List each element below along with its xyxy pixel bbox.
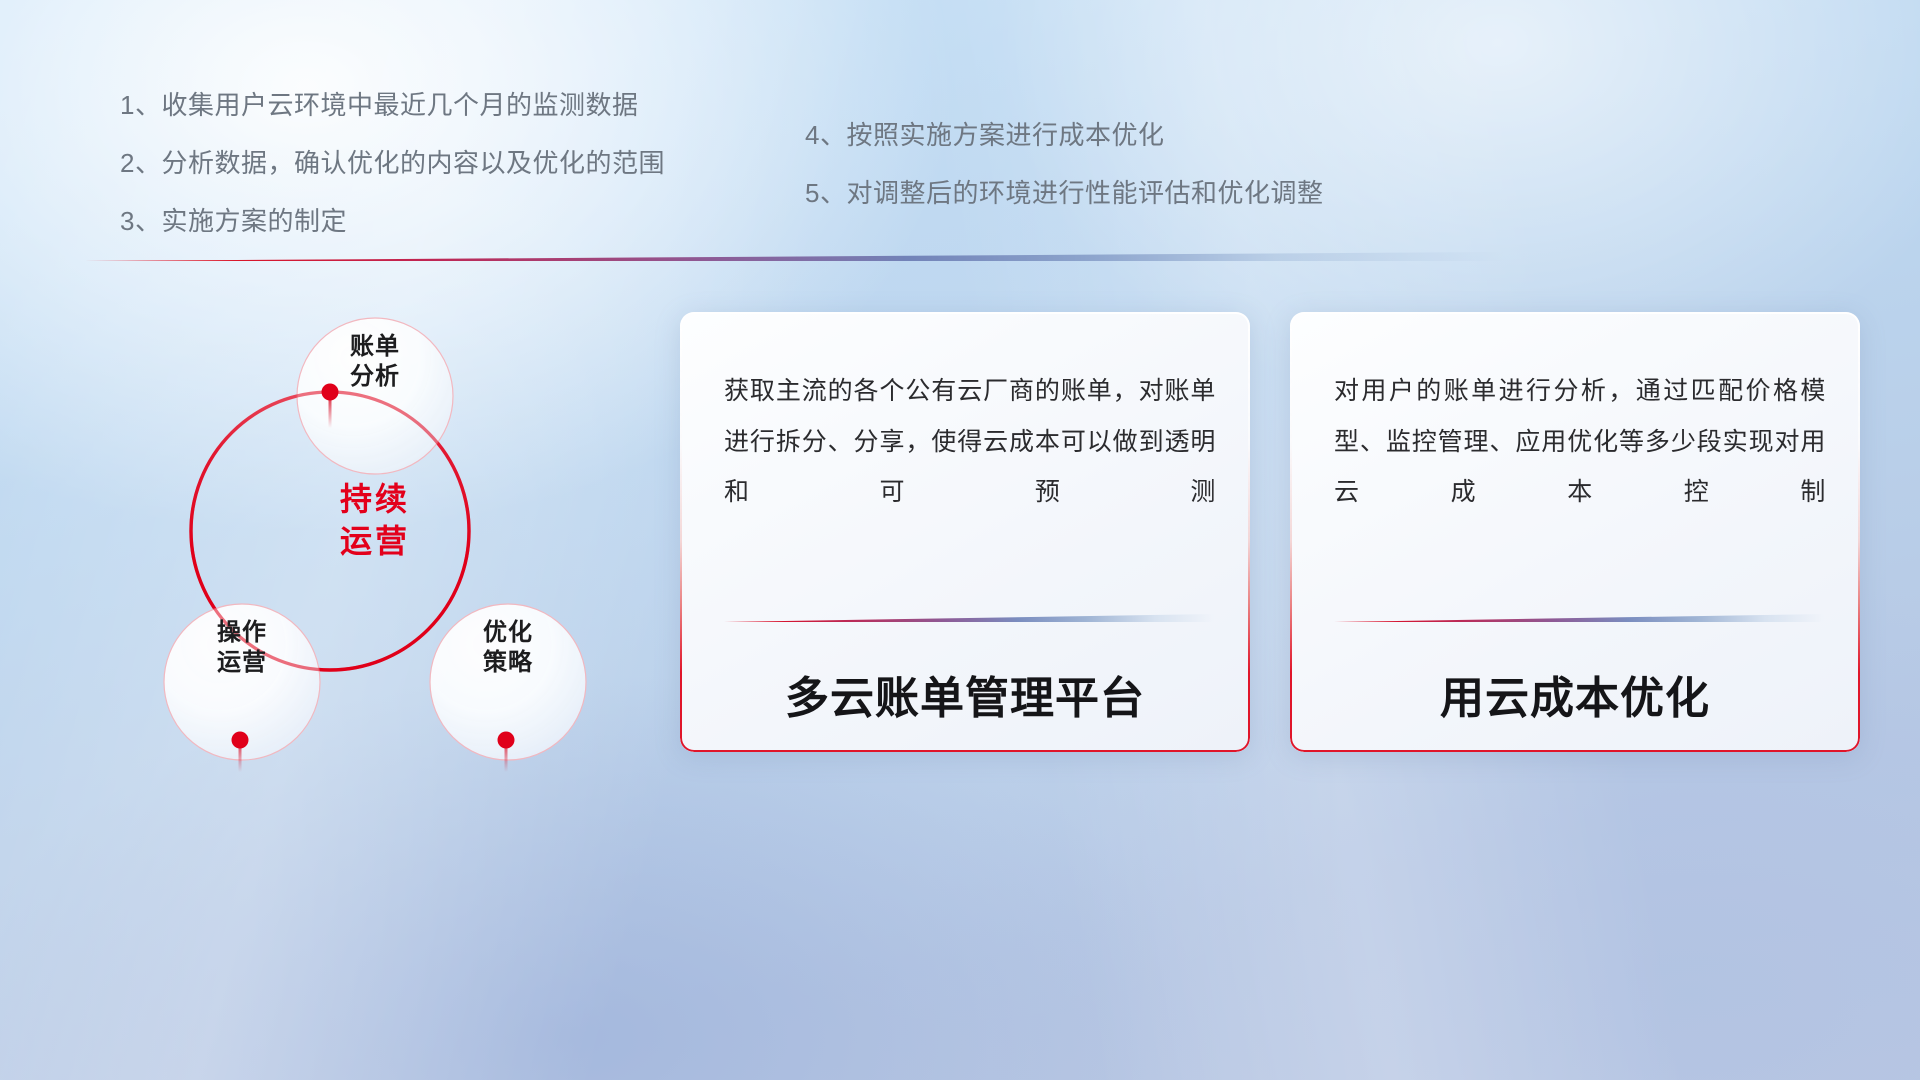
bubble-label-line1: 操作 [177, 618, 307, 648]
card-divider [724, 614, 1214, 622]
connector-dot [232, 732, 249, 749]
list-item: 2、分析数据，确认优化的内容以及优化的范围 [120, 150, 665, 176]
bubble-label-line2: 策略 [443, 648, 573, 678]
bubble-label-line2: 分析 [310, 362, 440, 392]
feature-card-multicloud-billing[interactable]: 获取主流的各个公有云厂商的账单，对账单进行拆分、分享，使得云成本可以做到透明和可… [680, 312, 1250, 752]
slide-canvas: 1、收集用户云环境中最近几个月的监测数据 2、分析数据，确认优化的内容以及优化的… [0, 0, 1920, 1080]
bubble-label-ops: 操作 运营 [177, 618, 307, 678]
steps-list-right: 4、按照实施方案进行成本优化 5、对调整后的环境进行性能评估和优化调整 [805, 122, 1323, 238]
card-title: 用云成本优化 [1290, 662, 1860, 726]
steps-list-left: 1、收集用户云环境中最近几个月的监测数据 2、分析数据，确认优化的内容以及优化的… [120, 92, 665, 266]
bubble-label-line2: 运营 [177, 648, 307, 678]
center-label-line2: 运营 [300, 521, 450, 563]
card-divider [1334, 614, 1824, 622]
list-item: 1、收集用户云环境中最近几个月的监测数据 [120, 92, 665, 118]
continuous-operation-diagram: 账单 分析 操作 运营 优化 策略 持续 运营 [95, 286, 565, 776]
connector-dot [498, 732, 515, 749]
bubble-label-opt: 优化 策略 [443, 618, 573, 678]
card-body-text: 对用户的账单进行分析，通过匹配价格模型、监控管理、应用优化等多少段实现对用云成本… [1334, 366, 1826, 518]
feature-card-cloud-cost-optimization[interactable]: 对用户的账单进行分析，通过匹配价格模型、监控管理、应用优化等多少段实现对用云成本… [1290, 312, 1860, 752]
bubble-label-line1: 账单 [310, 332, 440, 362]
card-title: 多云账单管理平台 [680, 662, 1250, 726]
bubble-label-bill: 账单 分析 [310, 332, 440, 392]
center-label-line1: 持续 [300, 479, 450, 521]
diagram-center-label: 持续 运营 [300, 479, 450, 562]
list-item: 3、实施方案的制定 [120, 208, 665, 234]
list-item: 4、按照实施方案进行成本优化 [805, 122, 1323, 148]
bubble-label-line1: 优化 [443, 618, 573, 648]
list-item: 5、对调整后的环境进行性能评估和优化调整 [805, 180, 1323, 206]
card-body-text: 获取主流的各个公有云厂商的账单，对账单进行拆分、分享，使得云成本可以做到透明和可… [724, 366, 1216, 518]
